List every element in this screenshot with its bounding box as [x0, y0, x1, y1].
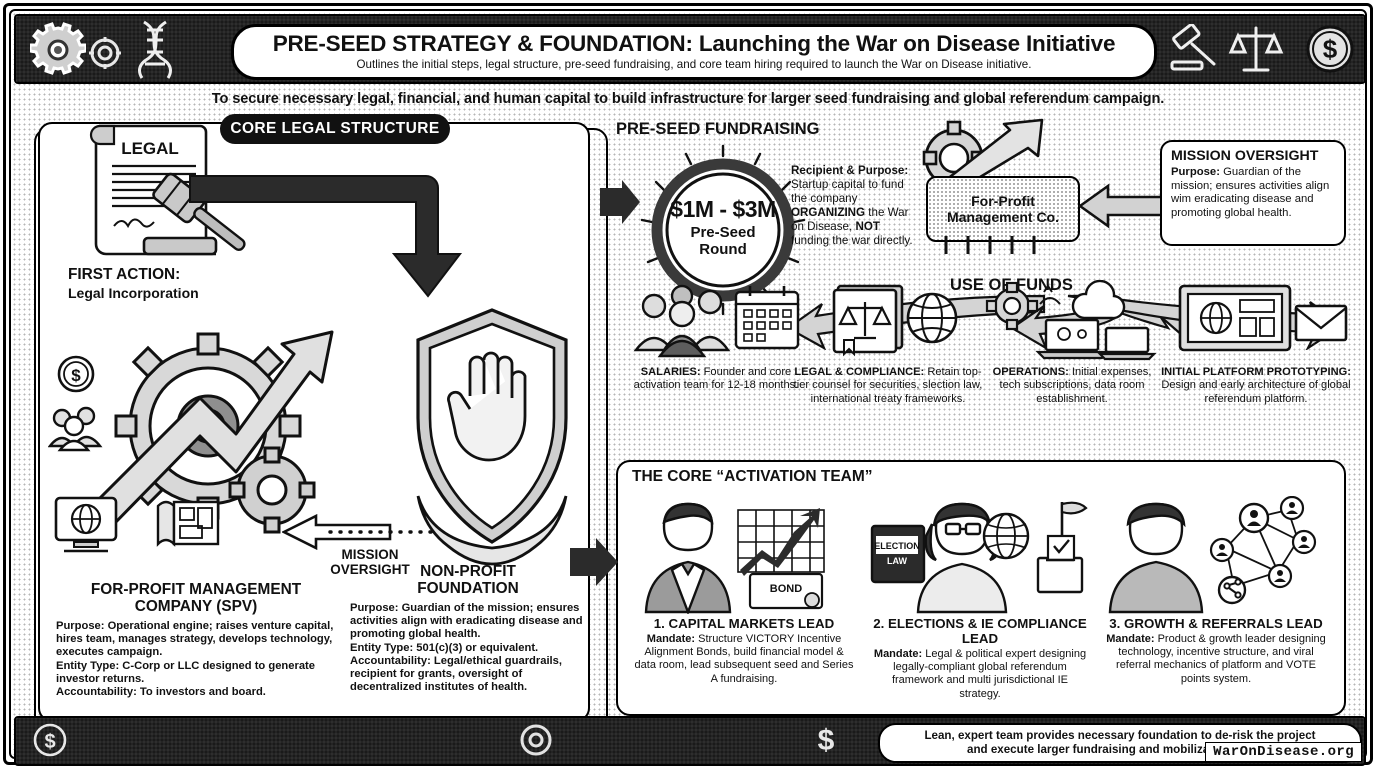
team-title-2: 2. ELECTIONS & IE COMPLIANCE LEAD	[866, 616, 1094, 646]
analyst-chart-bond-icon: BOND	[630, 496, 858, 614]
footer-line-1: Lean, expert team provides necessary fou…	[924, 729, 1315, 743]
objective-text: To secure necessary legal, financial, an…	[212, 91, 1165, 107]
people-group-icon	[48, 404, 104, 452]
svg-text:LAW: LAW	[887, 556, 908, 566]
dollar-coin-small-icon: $	[54, 352, 98, 396]
gavel-icon	[1166, 24, 1226, 76]
for-profit-entity-label: Entity Type:	[56, 660, 119, 672]
page-title: PRE-SEED STRATEGY & FOUNDATION: Launchin…	[273, 32, 1116, 56]
for-profit-management-co-node: For-Profit Management Co.	[926, 176, 1080, 242]
non-profit-purpose-label: Purpose:	[350, 602, 399, 614]
mission-oversight-callout: MISSION OVERSIGHT Purpose: Guardian of t…	[1160, 140, 1346, 246]
footer-gear-icon	[516, 720, 556, 760]
recipient-emph-not: NOT	[855, 220, 879, 233]
svg-text:ELECTION: ELECTION	[874, 541, 920, 551]
recipient-text-1: Startup capital to fund the company	[791, 178, 904, 205]
team-mandate-1: Mandate: Structure VICTORY Incentive Ali…	[630, 633, 858, 686]
team-mandate-label-2: Mandate:	[874, 648, 922, 660]
node-line1: For-Profit	[947, 193, 1059, 209]
svg-text:$: $	[44, 731, 55, 753]
fund-label-prototyping: INITIAL PLATFORM PROTOTYPING:	[1161, 366, 1351, 378]
for-profit-purpose-label: Purpose:	[56, 620, 105, 632]
use-of-funds-item-operations: OPERATIONS: Initial expenses, tech subsc…	[982, 280, 1162, 406]
section-label-activation-team: THE CORE “ACTIVATION TEAM”	[632, 468, 873, 486]
for-profit-block: FOR-PROFIT MANAGEMENT COMPANY (SPV) Purp…	[56, 582, 336, 699]
team-member-card-1: BOND 1. CAPITAL MARKETS LEAD Mandate: St…	[630, 496, 858, 710]
non-profit-title-line1: NON-PROFIT	[350, 564, 586, 581]
node-line2: Management Co.	[947, 209, 1059, 225]
dna-icon	[126, 20, 182, 80]
section-label-pre-seed-fundraising: PRE-SEED FUNDRAISING	[616, 120, 820, 139]
svg-text:$: $	[1323, 34, 1338, 64]
use-of-funds-caption-operations: OPERATIONS: Initial expenses, tech subsc…	[982, 366, 1162, 406]
recipient-emph-organizing: ORGANIZING	[791, 206, 865, 219]
non-profit-block: NON-PROFIT FOUNDATION Purpose: Guardian …	[350, 564, 586, 694]
team-mandate-label-1: Mandate:	[647, 633, 695, 645]
for-profit-title-line1: FOR-PROFIT MANAGEMENT	[56, 582, 336, 599]
blueprint-icon	[154, 496, 222, 552]
footer-dollar-icon: $	[32, 722, 68, 758]
fund-label-legal: LEGAL & COMPLIANCE:	[794, 366, 924, 378]
flow-arrow-legal-to-fundraising	[180, 158, 610, 300]
team-mandate-2: Mandate: Legal & political expert design…	[866, 648, 1094, 701]
gear-icon	[30, 22, 86, 78]
footer-dollar-icon-2: $	[806, 718, 846, 760]
svg-text:$: $	[71, 366, 81, 385]
use-of-funds-item-salaries: SALARIES: Founder and core activation te…	[626, 280, 806, 393]
objective-statement: To secure necessary legal, financial, an…	[14, 84, 1362, 114]
election-law-globe-icon: ELECTION LAW	[866, 496, 1094, 614]
use-of-funds-item-legal: LEGAL & COMPLIANCE: Retain top-tier coun…	[790, 280, 986, 406]
use-of-funds-item-prototyping: INITIAL PLATFORM PROTOTYPING: Design and…	[1160, 280, 1352, 406]
lawbook-globe-icon	[790, 280, 986, 360]
recipient-purpose-block: Recipient & Purpose: Startup capital to …	[791, 164, 919, 247]
body-area: CORE LEGAL STRUCTURE LEGAL	[20, 116, 1356, 718]
fund-text-prototyping: Design and early architecture of global …	[1161, 379, 1350, 404]
oversight-purpose-label: Purpose:	[1171, 166, 1220, 178]
shield-hands-icon	[394, 296, 590, 576]
for-profit-title-line2: COMPANY (SPV)	[56, 599, 336, 616]
team-title-3: 3. GROWTH & REFERRALS LEAD	[1102, 616, 1330, 631]
oversight-arrow-icon	[1078, 182, 1166, 230]
node-legs	[938, 236, 1068, 254]
header-band: $ PRE-SEED STRATEGY & FOUNDATION: Launch…	[14, 14, 1366, 84]
monitor-globe-icon	[50, 494, 122, 556]
flow-arrow-to-activation-team	[568, 536, 620, 588]
platform-blueprint-icon	[1160, 280, 1352, 360]
use-of-funds-caption-prototyping: INITIAL PLATFORM PROTOTYPING: Design and…	[1160, 366, 1352, 406]
non-profit-entity-label: Entity Type:	[350, 642, 413, 654]
scales-icon	[1228, 22, 1284, 78]
recipient-purpose-label: Recipient & Purpose:	[791, 164, 908, 177]
dollar-coin-icon: $	[1304, 23, 1356, 75]
team-mandate-label-3: Mandate:	[1106, 633, 1154, 645]
svg-text:BOND: BOND	[770, 583, 802, 595]
site-url-tag: WarOnDisease.org	[1205, 742, 1362, 762]
team-title-1: 1. CAPITAL MARKETS LEAD	[630, 616, 858, 631]
pre-seed-amount: $1M - $3M	[636, 196, 810, 223]
gears-cloud-laptop-icon	[982, 280, 1162, 360]
footer-band: $ $ Lean, expert team provides necessary…	[14, 716, 1366, 766]
fund-label-salaries: SALARIES:	[641, 366, 701, 378]
recipient-text-3: funding the war directly.	[791, 234, 913, 247]
use-of-funds-caption-legal: LEGAL & COMPLIANCE: Retain top-tier coun…	[790, 366, 986, 406]
team-calendar-icon	[626, 280, 806, 360]
activation-team-panel: THE CORE “ACTIVATION TEAM”	[616, 460, 1346, 716]
for-profit-accountability: To investors and board.	[137, 686, 266, 698]
team-mandate-3: Mandate: Product & growth leader designi…	[1102, 633, 1330, 686]
small-gear-icon	[88, 36, 122, 70]
svg-text:$: $	[818, 724, 835, 757]
for-profit-accountability-label: Accountability:	[56, 686, 137, 698]
pre-seed-round-line2: Round	[636, 241, 810, 258]
fund-label-operations: OPERATIONS:	[993, 366, 1069, 378]
non-profit-details: Purpose: Guardian of the mission; ensure…	[350, 602, 586, 695]
pre-seed-round-line1: Pre-Seed	[636, 224, 810, 241]
team-mandate-text-2: Legal & political expert designing legal…	[892, 648, 1086, 700]
network-share-icon	[1102, 496, 1330, 614]
title-pill: PRE-SEED STRATEGY & FOUNDATION: Launchin…	[231, 24, 1157, 80]
for-profit-details: Purpose: Operational engine; raises vent…	[56, 620, 336, 699]
non-profit-title-line2: FOUNDATION	[350, 581, 586, 598]
team-member-card-3: 3. GROWTH & REFERRALS LEAD Mandate: Prod…	[1102, 496, 1330, 710]
infographic-poster: $ PRE-SEED STRATEGY & FOUNDATION: Launch…	[0, 0, 1376, 768]
non-profit-accountability-label: Accountability:	[350, 655, 431, 667]
team-member-card-2: ELECTION LAW	[866, 496, 1094, 710]
page-subtitle: Outlines the initial steps, legal struct…	[357, 59, 1032, 72]
legal-document-label: LEGAL	[121, 139, 179, 158]
non-profit-entity: 501(c)(3) or equivalent.	[413, 642, 538, 654]
use-of-funds-caption-salaries: SALARIES: Founder and core activation te…	[626, 366, 806, 393]
oversight-title: MISSION OVERSIGHT	[1171, 148, 1335, 164]
